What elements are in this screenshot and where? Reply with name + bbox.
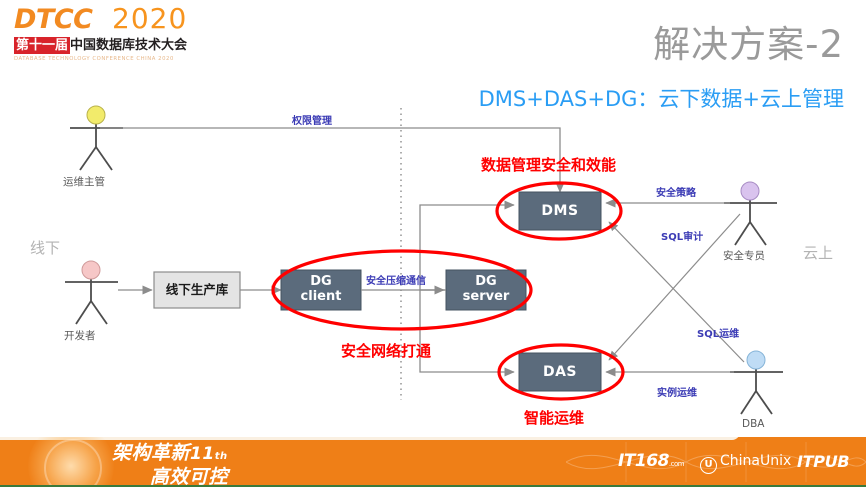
node-dg-server-label-line1: DG: [446, 275, 526, 289]
brand-logo-it168[interactable]: IT168.com: [618, 451, 684, 471]
node-das-label: DAS: [519, 365, 601, 379]
brand-itpub-name: ITPUB: [797, 452, 849, 471]
chinaunix-mark-icon: U: [700, 457, 717, 474]
node-dms-label: DMS: [519, 204, 601, 218]
brand-logo-chinaunix[interactable]: UChinaUnix: [700, 453, 791, 474]
edge-label-auth: 权限管理: [292, 112, 332, 127]
actor-dba-figure: [730, 351, 783, 414]
edge-label-sec-policy: 安全策略: [656, 184, 696, 199]
actor-developer-figure: [65, 261, 118, 324]
actor-dba-label: DBA: [742, 418, 764, 430]
architecture-diagram: 线下生产库 DG client DG server DMS DAS 运维主管 开…: [0, 100, 866, 430]
brand-it168-suffix: .com: [669, 460, 684, 468]
footer-slogan-ordinal: th: [215, 451, 228, 462]
footer-banner: 架构革新11th 高效可控 IT168.com UChinaUnix ITPUB: [0, 437, 866, 487]
annotation-das: 智能运维: [524, 407, 584, 428]
logo-brand-text: DTCC: [14, 6, 92, 33]
actor-ops-supervisor-label: 运维主管: [63, 174, 105, 189]
node-dg-server-label-line2: server: [446, 290, 526, 304]
node-dg-client-label-line2: client: [281, 290, 361, 304]
edge-label-inst-ops: 实例运维: [657, 384, 697, 399]
actor-security-specialist-figure: [724, 182, 777, 245]
node-dg-client-label-line1: DG: [281, 275, 361, 289]
brand-logo-itpub[interactable]: ITPUB: [797, 452, 849, 471]
zone-label-cloud: 云上: [803, 242, 833, 263]
edge-label-sql-ops: SQL运维: [697, 325, 739, 340]
page-title: 解决方案-2: [653, 14, 844, 68]
actor-ops-supervisor-figure: [70, 106, 123, 170]
slide-root: DTCC 2020 第十一届 中国数据库技术大会 DATABASE TECHNO…: [0, 0, 866, 487]
annotation-dms: 数据管理安全和效能: [481, 154, 616, 175]
logo-year-text: 2020: [112, 5, 187, 33]
logo-english-subtitle: DATABASE TECHNOLOGY CONFERENCE CHINA 202…: [14, 56, 174, 62]
edge-label-secure-comm: 安全压缩通信: [366, 272, 426, 287]
footer-slogan: 架构革新11th 高效可控: [112, 443, 228, 487]
footer-slogan-number: 11: [190, 444, 215, 464]
logo-conference-name: 中国数据库技术大会: [70, 37, 187, 54]
footer-slogan-line2: 高效可控: [150, 467, 228, 487]
footer-slogan-line1-text: 架构革新: [112, 442, 190, 464]
edge-sql-ops: [609, 222, 744, 362]
logo-chinese-bar: 第十一届 中国数据库技术大会: [14, 37, 192, 55]
dtcc-logo: DTCC 2020 第十一届 中国数据库技术大会 DATABASE TECHNO…: [14, 6, 214, 64]
node-prod-db-label: 线下生产库: [154, 283, 240, 297]
zone-label-offline: 线下: [30, 237, 60, 258]
annotation-network: 安全网络打通: [341, 340, 431, 361]
logo-edition-badge: 第十一届: [14, 37, 70, 54]
footer-slogan-line1: 架构革新11th: [112, 443, 228, 467]
brand-chinaunix-name: ChinaUnix: [720, 453, 791, 469]
actor-security-specialist-label: 安全专员: [723, 248, 765, 263]
actor-developer-label: 开发者: [64, 328, 96, 343]
diagram-svg: [0, 100, 866, 430]
brand-it168-name: IT168: [618, 451, 669, 471]
edge-label-sql-audit: SQL审计: [661, 228, 703, 243]
